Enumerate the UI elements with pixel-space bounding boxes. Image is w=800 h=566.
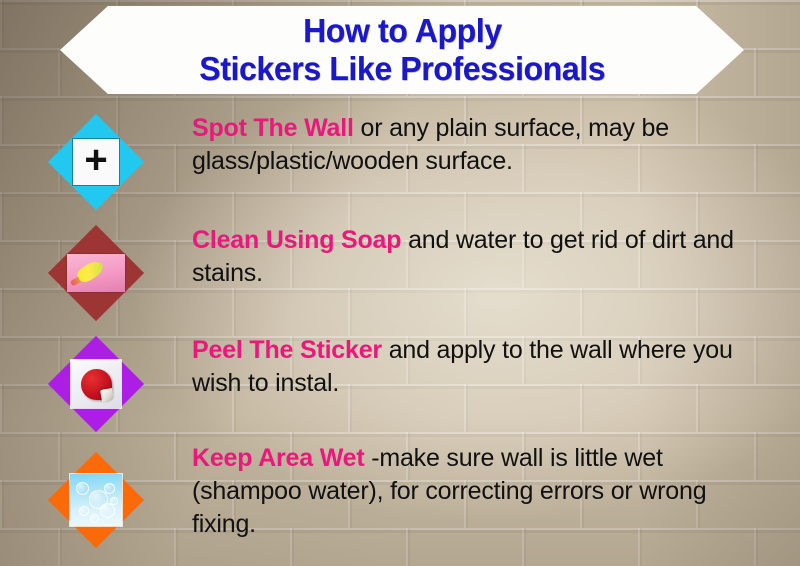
bubble	[76, 482, 89, 495]
sponge-graphic	[67, 254, 125, 292]
page-title-line-1: How to Apply	[303, 12, 502, 50]
steps-list: + Spot The Wall or any plain surface, ma…	[0, 100, 800, 560]
step-item-3: Peel The Sticker and apply to the wall w…	[0, 328, 800, 440]
step-2-icon-cell	[0, 218, 192, 328]
sponge-icon-tile	[67, 254, 125, 292]
sponge-brush	[75, 258, 106, 285]
sticker-peel-icon	[48, 336, 144, 432]
plus-glyph: +	[84, 140, 107, 180]
step-3-icon-cell	[0, 328, 192, 440]
step-1-text: Spot The Wall or any plain surface, may …	[192, 106, 800, 178]
bubble	[100, 503, 115, 518]
sticker-graphic	[81, 369, 112, 400]
step-4-icon-cell	[0, 440, 192, 560]
bubble	[110, 497, 118, 505]
step-item-1: + Spot The Wall or any plain surface, ma…	[0, 106, 800, 218]
step-1-icon-cell: +	[0, 106, 192, 218]
step-2-text: Clean Using Soap and water to get rid of…	[192, 218, 800, 290]
bubbles-icon-tile	[70, 474, 122, 526]
step-4-lead: Keep Area Wet	[192, 444, 364, 472]
step-item-4: Keep Area Wet -make sure wall is little …	[0, 440, 800, 560]
step-4-text: Keep Area Wet -make sure wall is little …	[192, 440, 800, 541]
step-1-lead: Spot The Wall	[192, 114, 354, 142]
sponge-icon	[48, 225, 144, 321]
step-3-text: Peel The Sticker and apply to the wall w…	[192, 328, 800, 400]
plus-icon-tile: +	[73, 139, 119, 185]
step-2-lead: Clean Using Soap	[192, 226, 401, 254]
plus-icon: +	[48, 114, 144, 210]
water-bubbles-icon	[48, 452, 144, 548]
bubble	[90, 514, 99, 523]
sticker-icon-tile	[71, 360, 121, 408]
infographic-poster: How to Apply Stickers Like Professionals…	[0, 0, 800, 566]
page-title-line-2: Stickers Like Professionals	[199, 50, 605, 88]
title-banner: How to Apply Stickers Like Professionals	[60, 6, 744, 94]
bubble	[104, 483, 115, 494]
step-3-lead: Peel The Sticker	[192, 336, 382, 364]
bubble	[79, 506, 89, 516]
step-item-2: Clean Using Soap and water to get rid of…	[0, 218, 800, 328]
